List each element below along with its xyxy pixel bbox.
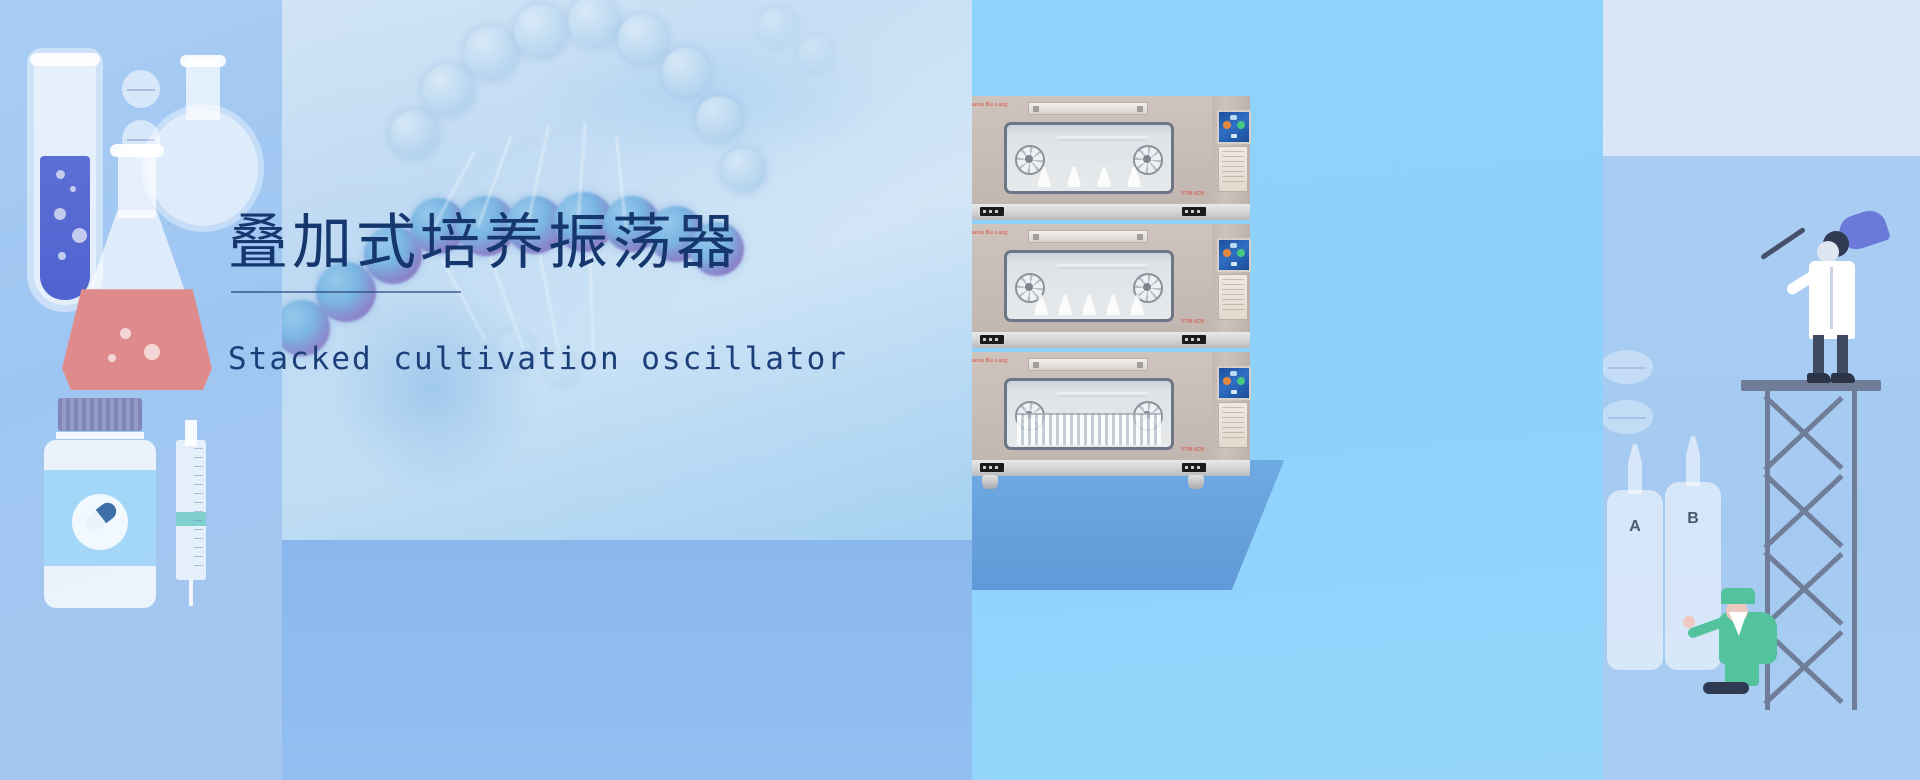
banner-headline: 叠加式培养振荡器 Stacked cultivation oscillator <box>228 212 848 377</box>
vent-grille <box>980 207 1004 216</box>
ampoule-a: A <box>1607 490 1663 670</box>
lcd-indicator <box>1230 115 1237 120</box>
control-panel[interactable] <box>1216 106 1248 194</box>
lcd-indicator <box>1223 377 1231 385</box>
page-subtitle: Stacked cultivation oscillator <box>228 341 848 377</box>
scientist-shoe <box>1831 373 1855 383</box>
bubble <box>108 354 116 362</box>
lab-illustration-panel <box>0 0 282 780</box>
ampoule-label: A <box>1607 518 1663 536</box>
bottle-ring <box>56 432 144 439</box>
flask-row <box>1029 291 1149 315</box>
flask-row <box>1029 163 1149 187</box>
lcd-screen[interactable] <box>1217 238 1251 272</box>
culture-flask <box>1131 295 1144 315</box>
viewing-window <box>1004 378 1174 450</box>
lcd-indicator <box>1237 121 1245 129</box>
unit-base-strip <box>972 460 1250 476</box>
culture-flask <box>1083 295 1096 315</box>
flask-neck <box>118 148 156 218</box>
brand-logo: Taurus Bio Lang <box>972 230 1007 236</box>
vent-grille <box>1182 463 1206 472</box>
door-handle[interactable] <box>1028 102 1148 115</box>
test-tube-lip <box>30 53 100 66</box>
worker-hat <box>1721 588 1755 604</box>
ampoule-label: B <box>1665 510 1721 528</box>
scientist-leg <box>1837 335 1848 375</box>
stacked-oscillator-product: Taurus Bio Lang YTW-SCB <box>972 96 1250 486</box>
scientist-with-telescope <box>1779 205 1889 385</box>
product-panel: Taurus Bio Lang YTW-SCB <box>972 0 1603 780</box>
petri-dish-icon <box>1603 400 1653 434</box>
pill-bottle-icon <box>36 398 164 608</box>
lcd-indicator <box>1231 390 1237 394</box>
door-handle[interactable] <box>1028 358 1148 371</box>
syringe-icon <box>170 430 212 610</box>
culture-flask <box>1035 295 1048 315</box>
control-panel[interactable] <box>1216 234 1248 322</box>
bubble <box>144 344 160 360</box>
model-code: YTW-SCB <box>1181 319 1204 325</box>
lcd-screen[interactable] <box>1217 110 1251 144</box>
culture-flask <box>1038 167 1051 187</box>
vent-grille <box>980 463 1004 472</box>
unit-foot <box>982 475 998 489</box>
culture-flask <box>1098 167 1111 187</box>
lcd-indicator <box>1237 377 1245 385</box>
syringe-graduations <box>194 448 203 572</box>
bubble <box>120 328 131 339</box>
syringe-plunger <box>185 420 197 446</box>
lcd-indicator <box>1230 243 1237 248</box>
document-holder <box>1218 274 1248 320</box>
lcd-indicator <box>1223 249 1231 257</box>
culture-flask <box>1059 295 1072 315</box>
worker-in-green-suit <box>1699 588 1795 698</box>
lcd-indicator <box>1237 249 1245 257</box>
lcd-indicator <box>1223 121 1231 129</box>
lcd-screen[interactable] <box>1217 366 1251 400</box>
control-panel[interactable] <box>1216 362 1248 450</box>
culture-flask <box>1068 167 1081 187</box>
page-title: 叠加式培养振荡器 <box>228 212 848 275</box>
culture-flask <box>1128 167 1141 187</box>
unit-foot <box>1188 475 1204 489</box>
culture-flask <box>1107 295 1120 315</box>
unit-base-strip <box>972 332 1250 348</box>
model-code: YTW-SCB <box>1181 447 1204 453</box>
viewing-window <box>1004 122 1174 194</box>
vent-grille <box>1182 207 1206 216</box>
bottle-cap <box>58 398 142 431</box>
product-banner: 叠加式培养振荡器 Stacked cultivation oscillator … <box>0 0 1920 780</box>
lcd-indicator <box>1230 371 1237 376</box>
unit-cabinet: Taurus Bio Lang YTW-SCB <box>972 96 1212 204</box>
viewing-window <box>1004 250 1174 322</box>
tower-brace <box>1765 472 1857 550</box>
vent-grille <box>1182 335 1206 344</box>
document-holder <box>1218 402 1248 448</box>
title-underline <box>231 291 461 293</box>
lcd-indicator <box>1231 134 1237 138</box>
lcd-indicator <box>1231 262 1237 266</box>
interior-light-bar <box>1056 264 1148 269</box>
unit-cabinet: Taurus Bio Lang YTW-SCB <box>972 352 1212 460</box>
vent-grille <box>980 335 1004 344</box>
worker-shoe <box>1703 682 1749 694</box>
test-tube-rack <box>1017 413 1161 445</box>
worker-hand <box>1683 616 1695 628</box>
document-holder <box>1218 146 1248 192</box>
dna-panel-lower-fill <box>282 540 972 780</box>
model-code: YTW-SCB <box>1181 191 1204 197</box>
scientist-leg <box>1813 335 1824 375</box>
interior-light-bar <box>1056 136 1148 141</box>
erlenmeyer-flask-icon <box>62 148 212 398</box>
scientist-face <box>1817 241 1839 263</box>
unit-base-strip <box>972 204 1250 220</box>
interior-light-bar <box>1056 392 1148 397</box>
scientist-illustration-panel: A B <box>1603 0 1920 780</box>
brand-logo: Taurus Bio Lang <box>972 358 1007 364</box>
brand-logo: Taurus Bio Lang <box>972 102 1007 108</box>
petri-dish-icon <box>1603 350 1653 384</box>
door-handle[interactable] <box>1028 230 1148 243</box>
syringe-needle <box>189 580 193 606</box>
scientist-shoe <box>1807 373 1831 383</box>
unit-cabinet: Taurus Bio Lang Y <box>972 224 1212 332</box>
tower-brace <box>1765 394 1857 472</box>
